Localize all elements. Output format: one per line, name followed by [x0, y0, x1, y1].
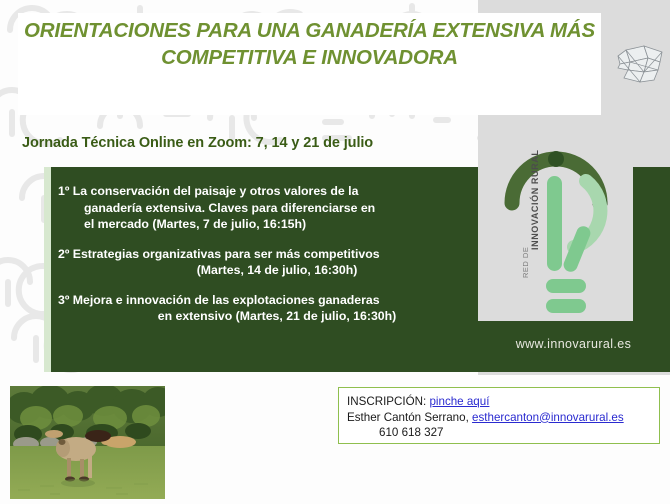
- list-item: 3º Mejora e innovación de las explotacio…: [58, 292, 478, 325]
- page-title: ORIENTACIONES PARA UNA GANADERÍA EXTENSI…: [18, 17, 601, 71]
- website-url: www.innovarural.es: [481, 337, 666, 351]
- session-line: 1º La conservación del paisaje y otros v…: [58, 183, 478, 200]
- red-de-innovacion-rural-logo: [478, 121, 633, 326]
- poster-canvas: ORIENTACIONES PARA UNA GANADERÍA EXTENSI…: [0, 0, 670, 504]
- polygon-mesh-decoration: [614, 44, 664, 91]
- session-line: en extensivo (Martes, 21 de julio, 16:30…: [58, 308, 478, 325]
- session-line: 3º Mejora e innovación de las explotacio…: [58, 292, 478, 309]
- session-line: ganadería extensiva. Claves para diferen…: [58, 200, 478, 217]
- registration-link[interactable]: pinche aquí: [429, 395, 489, 408]
- inscription-box: INSCRIPCIÓN: pinche aquí Esther Cantón S…: [338, 387, 660, 444]
- contact-email-link[interactable]: esthercanton@innovarural.es: [472, 411, 624, 424]
- list-item: 1º La conservación del paisaje y otros v…: [58, 183, 478, 233]
- event-subtitle: Jornada Técnica Online en Zoom: 7, 14 y …: [22, 135, 373, 151]
- sessions-list: 1º La conservación del paisaje y otros v…: [58, 183, 478, 338]
- logo-text-main: INNOVACIÓN RURAL: [530, 150, 540, 250]
- sponsor-strip: FUN Ge UVa Fundación General Universidad…: [0, 448, 670, 504]
- list-item: 2º Estrategias organizativas para ser má…: [58, 246, 478, 279]
- session-line: 2º Estrategias organizativas para ser má…: [58, 246, 478, 263]
- contact-name: Esther Cantón Serrano,: [347, 411, 469, 424]
- inscription-label: INSCRIPCIÓN:: [347, 395, 426, 408]
- session-line: (Martes, 14 de julio, 16:30h): [58, 262, 478, 279]
- contact-phone: 610 618 327: [347, 425, 659, 441]
- session-line: el mercado (Martes, 7 de julio, 16:15h): [58, 216, 478, 233]
- logo-text-sub: RED DE: [521, 247, 530, 278]
